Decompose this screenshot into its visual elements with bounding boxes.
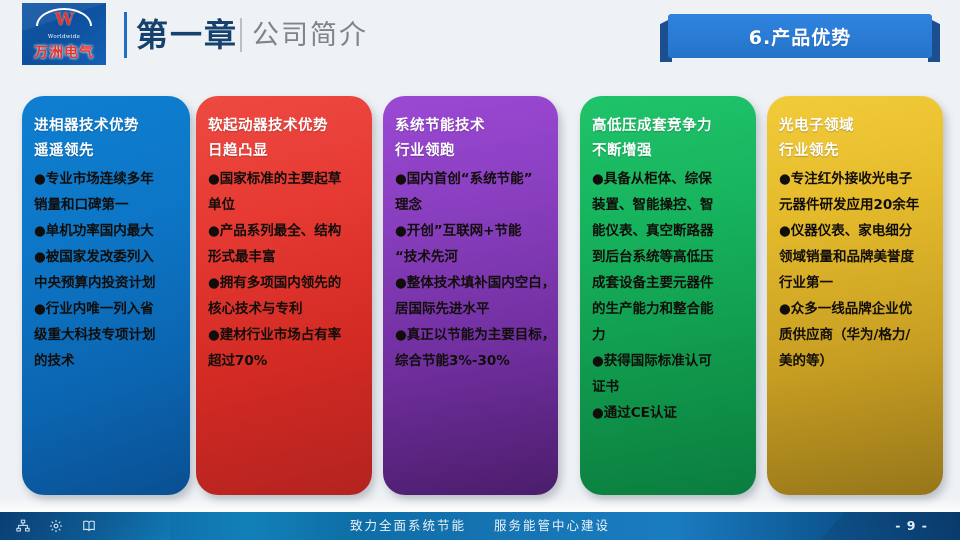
card-line: 核心技术与专利: [208, 296, 363, 322]
card-title-line1: 光电子领域: [779, 114, 934, 139]
card-title-line1: 进相器技术优势: [34, 114, 181, 139]
card-line: ●众多一线品牌企业优: [779, 296, 934, 322]
card-body: ●国家标准的主要起草 单位 ●产品系列最全、结构 形式最丰富 ●拥有多项国内领先…: [208, 166, 363, 374]
logo-emblem-icon: W: [36, 8, 92, 34]
card-title-line2: 行业领先: [779, 139, 934, 164]
card-line: 质供应商（华为/格力/: [779, 322, 934, 348]
card-line: ●单机功率国内最大: [34, 218, 181, 244]
section-badge-label: 6.产品优势: [749, 23, 851, 50]
slide-footer: 致力全面系统节能 服务能管中心建设 - 9 -: [0, 512, 960, 540]
chapter-subtitle: 公司简介: [252, 18, 368, 54]
card-line: 销量和口碑第一: [34, 192, 181, 218]
card-title-line1: 软起动器技术优势: [208, 114, 363, 139]
card-line: ●专业市场连续多年: [34, 166, 181, 192]
card-line: 的技术: [34, 348, 181, 374]
footer-highlight: [0, 498, 960, 512]
advantage-card-soft-starter[interactable]: 软起动器技术优势 日趋凸显 ●国家标准的主要起草 单位 ●产品系列最全、结构 形…: [196, 96, 372, 495]
card-line: 装置、智能操控、智: [592, 192, 747, 218]
card-line: 单位: [208, 192, 363, 218]
card-line: 综合节能3%-30%: [395, 348, 549, 374]
card-body: ●专注红外接收光电子 元器件研发应用20余年 ●仪器仪表、家电细分 领域销量和品…: [779, 166, 934, 374]
card-line: ●建材行业市场占有率: [208, 322, 363, 348]
card-line: ●产品系列最全、结构: [208, 218, 363, 244]
card-line: ●专注红外接收光电子: [779, 166, 934, 192]
company-logo: W Worldwide 万洲电气: [22, 3, 106, 65]
advantage-card-phase-advancer[interactable]: 进相器技术优势 遥遥领先 ●专业市场连续多年 销量和口碑第一 ●单机功率国内最大…: [22, 96, 190, 495]
card-line: 的生产能力和整合能: [592, 296, 747, 322]
card-line: ●真正以节能为主要目标，: [395, 322, 549, 348]
footer-slogan-right: 服务能管中心建设: [494, 518, 610, 533]
card-body: ●具备从柜体、综保 装置、智能操控、智 能仪表、真空断路器 到后台系统等高低压 …: [592, 166, 747, 426]
card-line: ●整体技术填补国内空白，: [395, 270, 549, 296]
footer-slogan-left: 致力全面系统节能: [350, 518, 466, 533]
card-line: ●通过CE认证: [592, 400, 747, 426]
card-line: ●被国家发改委列入: [34, 244, 181, 270]
advantage-card-switchgear[interactable]: 高低压成套竞争力 不断增强 ●具备从柜体、综保 装置、智能操控、智 能仪表、真空…: [580, 96, 756, 495]
card-title-line2: 日趋凸显: [208, 139, 363, 164]
card-body: ●国内首创“系统节能” 理念 ●开创”互联网+节能 “技术先河 ●整体技术填补国…: [395, 166, 549, 374]
card-line: ●获得国际标准认可: [592, 348, 747, 374]
logo-w-letter: W: [36, 8, 92, 32]
card-line: 力: [592, 322, 747, 348]
card-line: 能仪表、真空断路器: [592, 218, 747, 244]
card-line: ●开创”互联网+节能: [395, 218, 549, 244]
page-number: - 9 -: [895, 512, 928, 540]
card-line: 证书: [592, 374, 747, 400]
card-line: 成套设备主要元器件: [592, 270, 747, 296]
logo-chinese-text: 万洲电气: [34, 42, 94, 62]
card-line: 居国际先进水平: [395, 296, 549, 322]
card-line: ●国家标准的主要起草: [208, 166, 363, 192]
card-title-line1: 系统节能技术: [395, 114, 549, 139]
logo-english-text: Worldwide: [48, 34, 80, 40]
card-line: 行业第一: [779, 270, 934, 296]
card-line: ●仪器仪表、家电细分: [779, 218, 934, 244]
footer-slogan: 致力全面系统节能 服务能管中心建设: [0, 512, 960, 540]
card-title-line1: 高低压成套竞争力: [592, 114, 747, 139]
card-line: 美的等）: [779, 348, 934, 374]
card-line: 领域销量和品牌美誉度: [779, 244, 934, 270]
card-body: ●专业市场连续多年 销量和口碑第一 ●单机功率国内最大 ●被国家发改委列入 中央…: [34, 166, 181, 374]
advantage-card-list: 进相器技术优势 遥遥领先 ●专业市场连续多年 销量和口碑第一 ●单机功率国内最大…: [0, 96, 960, 496]
card-line: 理念: [395, 192, 549, 218]
advantage-card-optoelectronics[interactable]: 光电子领域 行业领先 ●专注红外接收光电子 元器件研发应用20余年 ●仪器仪表、…: [767, 96, 943, 495]
card-line: 级重大科技专项计划: [34, 322, 181, 348]
advantage-card-system-energy-saving[interactable]: 系统节能技术 行业领跑 ●国内首创“系统节能” 理念 ●开创”互联网+节能 “技…: [383, 96, 558, 495]
card-line: ●行业内唯一列入省: [34, 296, 181, 322]
card-line: 形式最丰富: [208, 244, 363, 270]
card-line: 到后台系统等高低压: [592, 244, 747, 270]
chapter-number: 第一章: [136, 14, 238, 56]
card-title-line2: 不断增强: [592, 139, 747, 164]
card-line: 元器件研发应用20余年: [779, 192, 934, 218]
card-line: 超过70%: [208, 348, 363, 374]
card-line: “技术先河: [395, 244, 549, 270]
card-line: ●拥有多项国内领先的: [208, 270, 363, 296]
slide-root: W Worldwide 万洲电气 第一章 公司简介 6.产品优势 进相器技术优势…: [0, 0, 960, 540]
card-title-line2: 遥遥领先: [34, 139, 181, 164]
badge-body: 6.产品优势: [668, 14, 932, 58]
card-title-line2: 行业领跑: [395, 139, 549, 164]
chapter-accent-bar: [124, 12, 127, 58]
slide-header: W Worldwide 万洲电气 第一章 公司简介 6.产品优势: [0, 0, 960, 72]
section-badge: 6.产品优势: [660, 14, 940, 58]
card-line: ●具备从柜体、综保: [592, 166, 747, 192]
chapter-divider: [240, 18, 242, 52]
card-line: 中央预算内投资计划: [34, 270, 181, 296]
card-line: ●国内首创“系统节能”: [395, 166, 549, 192]
